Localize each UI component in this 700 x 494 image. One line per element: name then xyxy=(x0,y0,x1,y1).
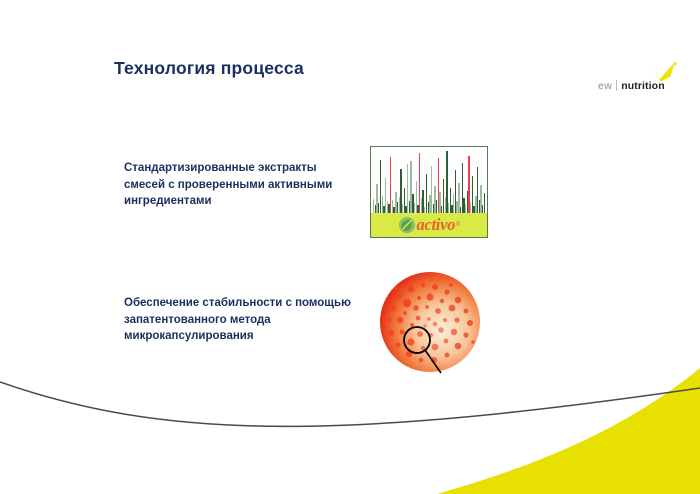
slide-canvas: Технология процесса ew nutrition Стандар… xyxy=(0,0,700,494)
bullet-text-stability-microencapsulation: Обеспечение стабильности с помощью запат… xyxy=(124,295,354,345)
page-title: Технология процесса xyxy=(114,58,304,79)
checkmark-icon xyxy=(651,62,677,82)
activo-wordmark: activo xyxy=(417,217,456,234)
leaf-icon xyxy=(398,216,416,234)
chromatogram-figure: activo ® xyxy=(370,146,488,238)
microcapsule-figure xyxy=(378,270,482,374)
brand-logo: ew nutrition xyxy=(598,70,665,92)
yellow-wedge xyxy=(415,368,700,494)
chromatogram-plot xyxy=(371,147,487,213)
chromatogram-bar xyxy=(484,193,485,213)
sweep-curve xyxy=(0,382,700,426)
activo-brand-band: activo ® xyxy=(371,213,487,237)
activo-logo: activo ® xyxy=(398,215,461,235)
logo-prefix-text: ew xyxy=(598,80,616,92)
registered-mark: ® xyxy=(456,222,460,228)
bullet-text-standardized-extracts: Стандартизированные экстракты смесей с п… xyxy=(124,160,354,210)
footer-decoration xyxy=(0,360,700,494)
